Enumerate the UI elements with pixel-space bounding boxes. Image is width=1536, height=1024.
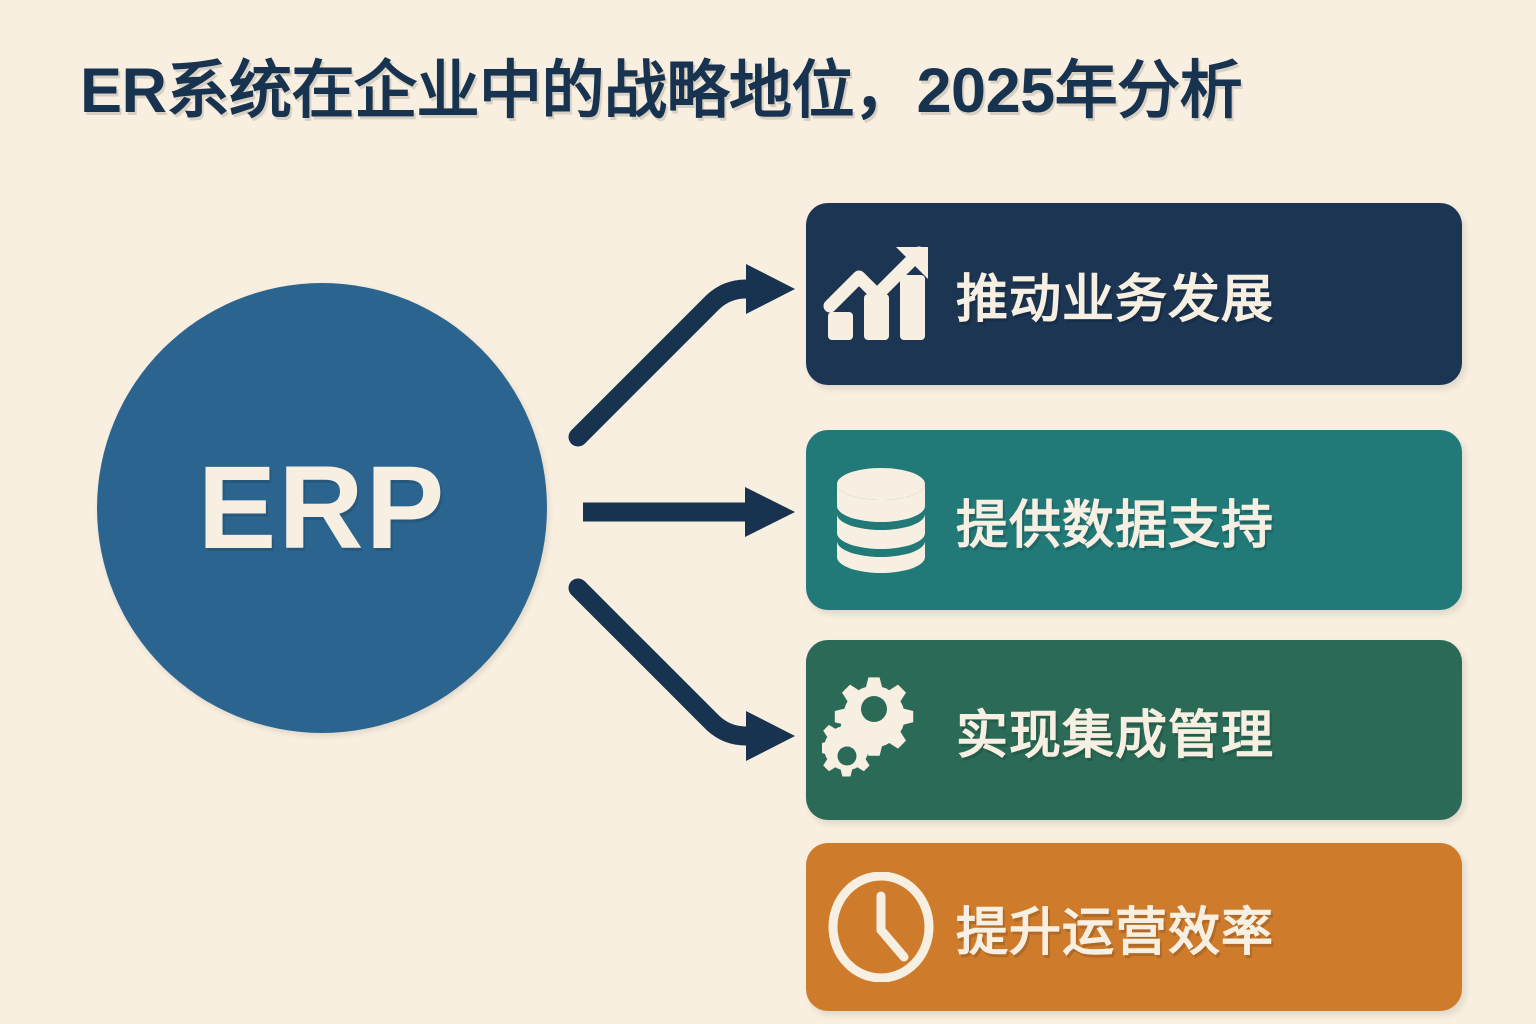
benefit-card-label: 推动业务发展 [956,257,1274,332]
benefit-card-integrated-management[interactable]: 实现集成管理 [806,640,1462,820]
benefit-card-label: 提升运营效率 [956,890,1274,965]
benefit-card-operational-efficiency[interactable]: 提升运营效率 [806,843,1462,1011]
benefit-card-business-growth[interactable]: 推动业务发展 [806,203,1462,385]
benefit-card-label: 实现集成管理 [956,693,1274,768]
gears-icon [806,673,956,788]
infographic-canvas: ER系统在企业中的战略地位，2025年分析 ERP [0,0,1536,1024]
arrow-right-icon [583,487,795,537]
clock-icon [806,872,956,982]
database-icon [806,465,956,575]
benefit-card-label: 提供数据支持 [956,483,1274,558]
arrow-down-right-icon [578,588,795,761]
erp-hub-label: ERP [198,449,447,567]
erp-hub-circle: ERP [97,283,547,733]
page-title: ER系统在企业中的战略地位，2025年分析 [80,48,1500,134]
bar-chart-growth-icon [806,244,956,344]
arrow-up-right-icon [578,264,795,437]
benefit-card-data-support[interactable]: 提供数据支持 [806,430,1462,610]
